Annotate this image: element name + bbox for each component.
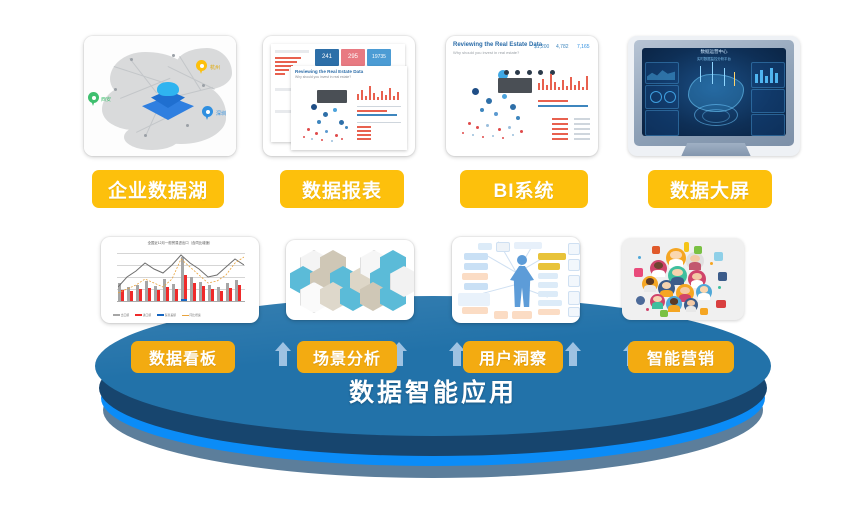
tooltip — [317, 90, 347, 103]
persona-tag — [568, 243, 580, 255]
network-node — [114, 88, 117, 91]
report-headline: Reviewing the Real Estate Data — [295, 69, 363, 74]
persona-tag — [512, 311, 532, 319]
decor-icon-chip — [714, 252, 723, 261]
map-region-shape — [124, 124, 180, 150]
mini-bar — [357, 130, 371, 132]
mini-bar-chart — [357, 84, 403, 100]
kpi-value: $1,200 — [534, 44, 549, 50]
gauge-ring — [650, 91, 662, 103]
chart-x-labels: 2023-01 2023-03 2023-05 2023-07 2023-09 … — [118, 303, 244, 312]
label-text: 场景分析 — [313, 345, 381, 369]
label-bi-system[interactable]: BI系统 — [460, 170, 588, 208]
label-marketing[interactable]: 智能营销 — [628, 341, 734, 373]
panel-divider — [357, 122, 401, 123]
label-data-report[interactable]: 数据报表 — [280, 170, 404, 208]
avatar — [642, 276, 658, 292]
platform-disc: 数据智能应用 — [95, 296, 771, 486]
avatar — [650, 260, 667, 277]
panel-divider — [357, 106, 401, 107]
label-dashboard[interactable]: 数据看板 — [131, 341, 235, 373]
persona-tag — [464, 283, 488, 290]
label-text: 数据报表 — [302, 176, 382, 203]
monitor-stand — [680, 143, 752, 156]
report-subline: Why should you invest in real estate? — [295, 75, 351, 79]
persona-tag — [538, 309, 560, 315]
map-pin-xian — [88, 92, 99, 106]
screen-bar — [765, 76, 768, 83]
mini-bar — [357, 126, 371, 128]
screen-panel — [751, 89, 785, 113]
decor-icon-chip — [718, 272, 727, 281]
avatar — [686, 252, 704, 270]
map-pin-label: 杭州 — [210, 64, 220, 71]
avatar — [696, 284, 712, 300]
persona-silhouette — [510, 255, 534, 307]
hexagon-scenario-map-thumbnail[interactable] — [286, 240, 414, 320]
screen-bar — [770, 68, 773, 83]
persona-tag — [496, 242, 510, 252]
network-node — [144, 134, 147, 137]
persona-tag — [464, 263, 488, 270]
decor-icon-chip — [660, 310, 668, 317]
screen-title: 数据运营中心 — [642, 49, 786, 55]
screen-panel — [751, 114, 785, 136]
platform-title: 数据智能应用 — [95, 373, 771, 409]
screen-subtitle: 实时数据监控分析平台 — [642, 56, 786, 61]
persona-tag — [538, 300, 562, 306]
bi-headline: Reviewing the Real Estate Data — [453, 42, 542, 48]
avatar — [650, 294, 665, 309]
label-text: 智能营销 — [647, 345, 715, 369]
persona-tag — [568, 307, 580, 317]
mini-bar — [357, 110, 387, 112]
screen-pillar — [700, 66, 701, 82]
chart-title: 全国近12月一般贸易进出口（含同比增速） — [101, 240, 259, 245]
tooltip — [498, 78, 532, 93]
bi-subline: Why should you invest in real estate? — [453, 50, 519, 55]
big-screen-monitor-thumbnail[interactable]: 数据运营中心 实时数据监控分析平台 — [628, 36, 800, 156]
persona-tag — [538, 253, 566, 260]
label-text: 数据大屏 — [670, 176, 750, 203]
label-data-lake[interactable]: 企业数据湖 — [92, 170, 224, 208]
network-node — [202, 84, 205, 87]
screen-radar-ring — [702, 109, 730, 123]
mini-bar — [357, 114, 397, 116]
decor-dot — [638, 256, 641, 259]
avatar — [684, 298, 698, 312]
persona-tag — [514, 242, 542, 249]
mini-bar — [275, 57, 301, 59]
decor-icon-chip — [636, 296, 645, 305]
decor-icon-chip — [694, 246, 702, 254]
screen-pillar — [724, 68, 725, 86]
kpi-value: 7,165 — [577, 44, 590, 50]
chart-legend: 出口额 进口额 贸易差额 同比增速 — [113, 313, 201, 317]
persona-tag — [538, 263, 560, 270]
screen-panel — [645, 110, 679, 136]
screen-bar — [775, 73, 778, 83]
label-scenario[interactable]: 场景分析 — [297, 341, 397, 373]
kpi-value: 295 — [341, 54, 365, 60]
screen-bar — [755, 74, 758, 83]
decor-icon-chip — [684, 242, 689, 252]
decor-dot — [718, 286, 721, 289]
kpi-value: 4,782 — [556, 44, 569, 50]
mini-bar — [357, 138, 371, 140]
report-sheet-front: Reviewing the Real Estate Data Why shoul… — [291, 66, 407, 150]
up-arrow-icon — [275, 342, 291, 366]
label-text: 数据看板 — [149, 345, 217, 369]
bi-scatter-dashboard-thumbnail[interactable]: Reviewing the Real Estate Data Why shoul… — [446, 36, 598, 156]
monitor-screen: 数据运营中心 实时数据监控分析平台 — [642, 48, 786, 136]
persona-tag — [478, 243, 492, 250]
screen-bar — [760, 70, 763, 83]
avatar — [666, 296, 682, 312]
bi-bar-chart — [538, 72, 592, 90]
persona-tag — [568, 291, 580, 305]
decor-icon-chip — [652, 246, 660, 254]
mini-bar — [275, 61, 297, 63]
mini-bar — [538, 105, 588, 107]
data-lake-icon — [142, 80, 194, 120]
china-map-data-lake-thumbnail[interactable]: 杭州 深圳 西安 — [84, 36, 236, 156]
map-pin-label: 西安 — [101, 96, 111, 103]
map-pin-hangzhou — [196, 60, 207, 74]
label-text: 企业数据湖 — [108, 176, 208, 203]
decor-dot — [646, 308, 649, 311]
label-data-screen[interactable]: 数据大屏 — [648, 170, 772, 208]
decor-dot — [710, 262, 713, 265]
persona-tag — [458, 293, 490, 306]
label-text: 用户洞察 — [479, 345, 547, 369]
mini-bar — [538, 100, 568, 102]
label-insight[interactable]: 用户洞察 — [463, 341, 563, 373]
mini-bar — [275, 73, 285, 75]
persona-tag — [568, 275, 580, 287]
up-arrow-icon — [565, 342, 581, 366]
chart-trend-lines — [118, 249, 244, 301]
persona-tag — [494, 311, 508, 319]
decor-icon-chip — [716, 300, 726, 308]
map-pin-shenzhen — [202, 106, 213, 120]
map-pin-label: 深圳 — [216, 110, 226, 117]
mini-bar — [275, 69, 289, 71]
panel-divider — [275, 50, 309, 53]
mini-bar — [357, 134, 371, 136]
gauge-ring — [664, 91, 676, 103]
decor-icon-chip — [634, 268, 643, 277]
persona-tag — [568, 259, 580, 271]
network-node — [130, 58, 133, 61]
persona-tag — [538, 273, 558, 279]
kpi-value: 241 — [315, 54, 339, 60]
persona-tag — [462, 307, 488, 314]
audience-crowd-thumbnail[interactable] — [622, 238, 744, 320]
kpi-value: 19735 — [367, 54, 391, 60]
persona-tag — [538, 291, 558, 297]
persona-tag — [538, 282, 558, 288]
report-dashboard-thumbnail[interactable]: 241 295 19735 Reviewing the Real Estate … — [263, 36, 415, 156]
table-rows — [538, 118, 592, 148]
screen-pillar — [712, 62, 713, 84]
persona-tag — [462, 273, 488, 280]
persona-tag — [464, 253, 488, 260]
chart-axis — [117, 301, 245, 302]
diagram-canvas: 杭州 深圳 西安 241 295 19735 — [0, 0, 866, 527]
screen-pillar — [734, 72, 735, 86]
combo-bar-line-chart-thumbnail[interactable]: 全国近12月一般贸易进出口（含同比增速） — [101, 237, 259, 323]
avatar — [666, 248, 686, 268]
network-node — [172, 54, 175, 57]
user-persona-thumbnail[interactable] — [452, 237, 580, 323]
label-text: BI系统 — [493, 176, 554, 203]
decor-icon-chip — [700, 308, 708, 315]
network-node — [186, 124, 189, 127]
